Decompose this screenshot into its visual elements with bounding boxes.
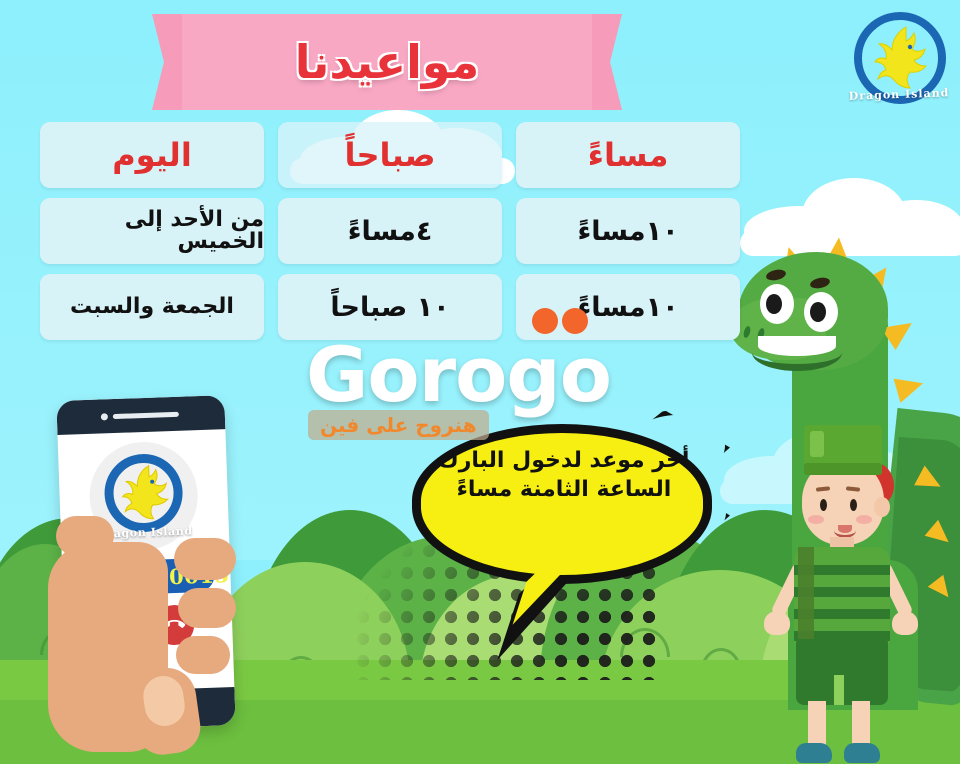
row-1-morning-cell: ٤مساءً [278, 198, 502, 264]
speaker-grill [113, 412, 179, 419]
row-2-morning-value: ١٠ صباحاً [330, 294, 449, 321]
header-day-label: اليوم [112, 139, 192, 171]
row-1-morning-value: ٤مساءً [348, 218, 433, 245]
schedule-table: مساءً صباحاً اليوم ١٠مساءً ٤مساءً من الأ… [40, 122, 740, 350]
table-row: ١٠مساءً ٤مساءً من الأحد إلى الخميس [40, 198, 740, 264]
row-2-morning-cell: ١٠ صباحاً [278, 274, 502, 340]
notice-line-1: أخر موعد لدخول البارك [420, 446, 708, 475]
header-cell-day: اليوم [40, 122, 264, 188]
poster-canvas: أخر موعد لدخول البارك الساعة الثامنة مسا… [0, 0, 960, 764]
phone-earpiece-bar [56, 395, 225, 435]
title-ribbon: مواعيدنا [152, 14, 622, 110]
header-cell-evening: مساءً [516, 122, 740, 188]
header-cell-morning: صباحاً [278, 122, 502, 188]
phone-in-hand: Dragon Island 01200120015 [48, 398, 278, 764]
front-camera-icon [101, 413, 108, 420]
logo-brand-label: Dragon Island [846, 86, 952, 103]
header-evening-label: مساءً [588, 139, 669, 171]
notice-speech-bubble: أخر موعد لدخول البارك الساعة الثامنة مسا… [400, 410, 730, 640]
row-1-evening-value: ١٠مساءً [577, 218, 678, 245]
notice-text: أخر موعد لدخول البارك الساعة الثامنة مسا… [420, 446, 708, 504]
notice-line-2: الساعة الثامنة مساءً [420, 475, 708, 504]
table-row: ١٠مساءً ١٠ صباحاً الجمعة والسبت [40, 274, 740, 340]
row-1-evening-cell: ١٠مساءً [516, 198, 740, 264]
row-2-day-value: الجمعة والسبت [70, 296, 234, 318]
row-2-day-cell: الجمعة والسبت [40, 274, 264, 340]
hand-holding-phone [48, 454, 248, 764]
row-1-day-cell: من الأحد إلى الخميس [40, 198, 264, 264]
row-2-evening-cell: ١٠مساءً [516, 274, 740, 340]
brand-logo[interactable]: Dragon Island [846, 10, 952, 122]
table-header-row: مساءً صباحاً اليوم [40, 122, 740, 188]
dragon-head-icon [872, 24, 930, 94]
row-1-day-value: من الأحد إلى الخميس [40, 209, 264, 253]
boy-character [742, 425, 932, 764]
page-title: مواعيدنا [152, 14, 622, 110]
row-2-evening-value: ١٠مساءً [577, 294, 678, 321]
header-morning-label: صباحاً [344, 139, 435, 171]
